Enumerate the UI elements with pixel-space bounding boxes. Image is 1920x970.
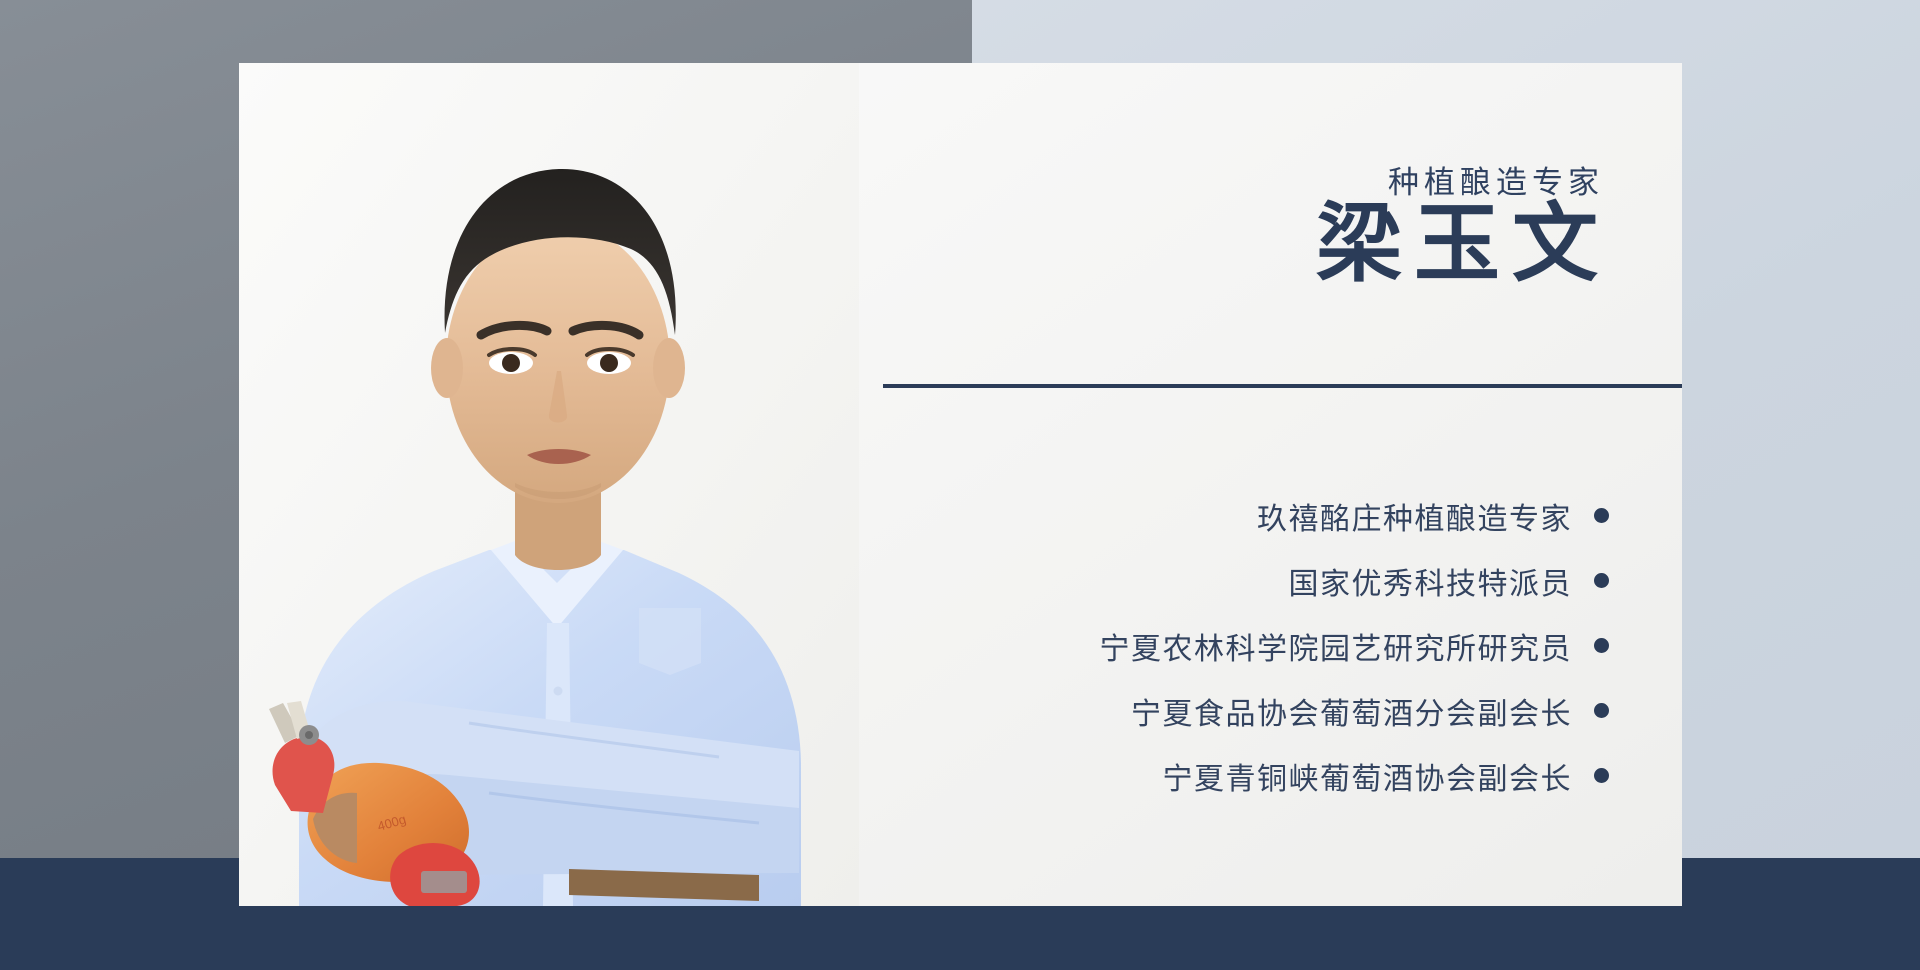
- profile-card: 400g 种植酿造专家 梁玉文 玖禧酩庄种植酿造专家: [239, 63, 1682, 906]
- list-item: 国家优秀科技特派员: [889, 548, 1609, 613]
- divider-line: [883, 384, 1682, 388]
- bullet-dot-icon: [1594, 703, 1609, 718]
- person-name: 梁玉文: [1316, 199, 1610, 289]
- credential-text: 玖禧酩庄种植酿造专家: [1257, 494, 1572, 538]
- bullet-dot-icon: [1594, 768, 1609, 783]
- credential-text: 宁夏青铜峡葡萄酒协会副会长: [1163, 754, 1573, 798]
- list-item: 宁夏农林科学院园艺研究所研究员: [889, 613, 1609, 678]
- credential-text: 宁夏食品协会葡萄酒分会副会长: [1131, 689, 1572, 733]
- credential-text: 宁夏农林科学院园艺研究所研究员: [1100, 624, 1573, 668]
- list-item: 玖禧酩庄种植酿造专家: [889, 483, 1609, 548]
- bullet-dot-icon: [1594, 508, 1609, 523]
- info-column: 种植酿造专家 梁玉文 玖禧酩庄种植酿造专家 国家优秀科技特派员 宁夏农林科学院园…: [879, 63, 1682, 906]
- portrait-illustration: 400g: [239, 63, 859, 906]
- credential-text: 国家优秀科技特派员: [1289, 559, 1573, 603]
- credentials-list: 玖禧酩庄种植酿造专家 国家优秀科技特派员 宁夏农林科学院园艺研究所研究员 宁夏食…: [889, 483, 1609, 808]
- list-item: 宁夏食品协会葡萄酒分会副会长: [889, 678, 1609, 743]
- portrait-photo: 400g: [239, 63, 859, 906]
- list-item: 宁夏青铜峡葡萄酒协会副会长: [889, 743, 1609, 808]
- bullet-dot-icon: [1594, 638, 1609, 653]
- profile-banner: 400g 种植酿造专家 梁玉文 玖禧酩庄种植酿造专家: [0, 0, 1920, 970]
- bullet-dot-icon: [1594, 573, 1609, 588]
